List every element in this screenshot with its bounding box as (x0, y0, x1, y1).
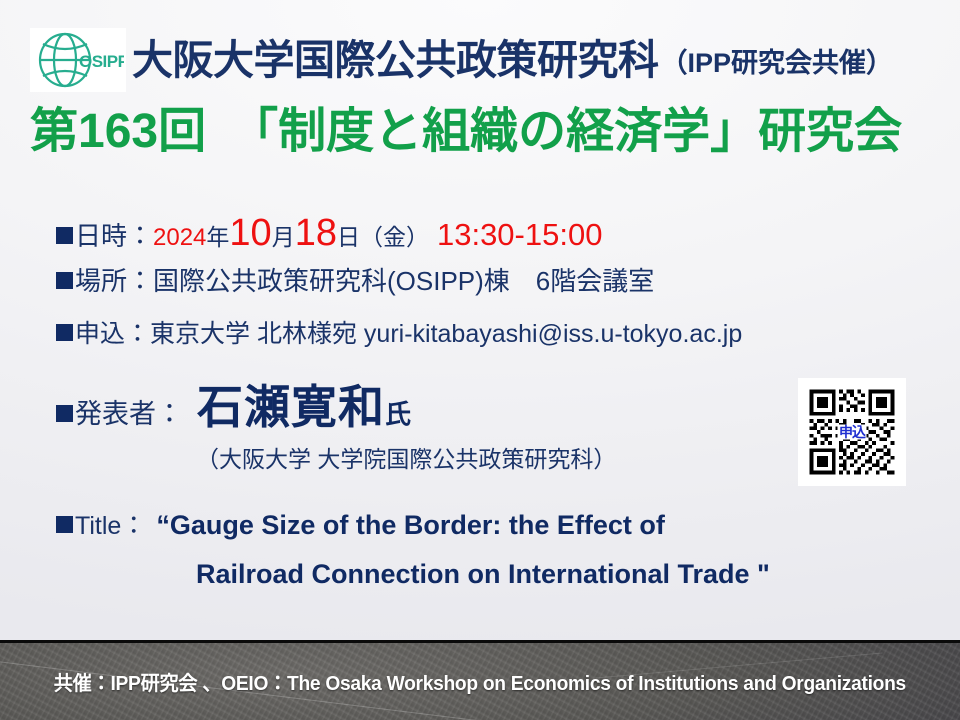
seminar-title: 第163回 「制度と組織の経済学」研究会 (30, 104, 902, 159)
bullet-square-icon (56, 516, 73, 533)
date-time: 13:30-15:00 (437, 217, 602, 252)
seminar-poster: OSIPP 大阪大学国際公共政策研究科 （IPP研究会共催） 第163回 「制度… (0, 0, 960, 720)
application-email[interactable]: yuri-kitabayashi@iss.u-tokyo.ac.jp (364, 320, 742, 348)
date-day: 18 (295, 212, 337, 254)
speaker-label: 発表者： (75, 399, 183, 429)
date-year: 2024 (153, 224, 206, 251)
date-year-unit: 年 (206, 224, 229, 250)
bullet-square-icon (56, 405, 73, 422)
footer-cohost-text: 共催：IPP研究会 、OEIO：The Osaka Workshop on Ec… (54, 667, 906, 696)
detail-application: 申込：東京大学 北林様宛 yuri-kitabayashi@iss.u-toky… (56, 322, 742, 347)
bullet-square-icon (56, 272, 73, 289)
speaker-honorific: 氏 (385, 399, 411, 429)
svg-text:OSIPP: OSIPP (79, 52, 124, 71)
application-contact: 東京大学 北林様宛 (150, 320, 364, 348)
date-weekday: （金） (360, 224, 429, 250)
bullet-square-icon (56, 227, 73, 244)
poster-footer: 共催：IPP研究会 、OEIO：The Osaka Workshop on Ec… (0, 640, 960, 720)
venue-label: 場所： (75, 266, 153, 296)
detail-paper-title: Title：“Gauge Size of the Border: the Eff… (56, 512, 665, 539)
osipp-logo: OSIPP (30, 28, 126, 92)
date-label: 日時： (75, 221, 153, 251)
application-qr-code[interactable]: 申込 (798, 378, 906, 486)
date-day-unit: 日 (337, 224, 360, 250)
poster-header: OSIPP 大阪大学国際公共政策研究科 （IPP研究会共催） (30, 24, 940, 96)
date-month: 10 (229, 212, 271, 254)
application-label: 申込： (75, 320, 150, 348)
speaker-name: 石瀬寛和 (197, 381, 385, 433)
paper-title-line1: “Gauge Size of the Border: the Effect of (156, 510, 665, 540)
detail-venue: 場所：国際公共政策研究科(OSIPP)棟 6階会議室 (56, 268, 654, 294)
venue-value: 国際公共政策研究科(OSIPP)棟 6階会議室 (153, 266, 654, 296)
speaker-affiliation: （大阪大学 大学院国際公共政策研究科） (196, 448, 616, 471)
date-month-unit: 月 (272, 224, 295, 250)
paper-title-line2: Railroad Connection on International Tra… (196, 561, 770, 588)
organization-name: 大阪大学国際公共政策研究科 (132, 40, 659, 81)
detail-date: 日時：2024年10月18日（金）13:30-15:00 (56, 214, 602, 252)
bullet-square-icon (56, 324, 73, 341)
co-host-note: （IPP研究会共催） (661, 50, 894, 77)
detail-speaker: 発表者：石瀬寛和氏 (56, 384, 411, 430)
paper-title-label: Title： (75, 512, 146, 540)
